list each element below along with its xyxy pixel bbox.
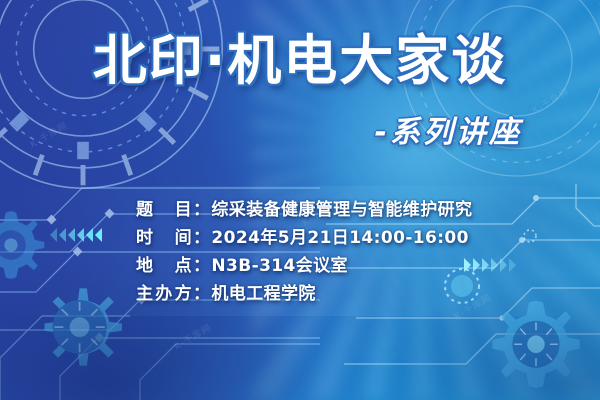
- detail-row-organizer: 主办方 ： 机电工程学院: [136, 279, 472, 307]
- detail-row-topic: 题目 ： 综采装备健康管理与智能维护研究: [136, 195, 472, 223]
- detail-value: 综采装备健康管理与智能维护研究: [211, 195, 472, 220]
- poster-title: 北印·机电大家谈: [0, 34, 600, 88]
- detail-colon: ：: [192, 195, 211, 220]
- detail-colon: ：: [192, 279, 211, 304]
- poster-subtitle: -系列讲座: [375, 118, 522, 148]
- event-details: 题目 ： 综采装备健康管理与智能维护研究 时间 ： 2024年5月21日14:0…: [136, 195, 472, 307]
- poster-canvas: K-千库网 K-千库网 K-千库网 K-千库网 K-千库网 K-千库网 北印·机…: [0, 0, 600, 400]
- detail-row-time: 时间 ： 2024年5月21日14:00-16:00: [136, 223, 472, 251]
- detail-value: 2024年5月21日14:00-16:00: [211, 223, 468, 248]
- detail-label: 时间: [136, 223, 192, 248]
- detail-label: 主办方: [136, 279, 192, 304]
- poster-content: 北印·机电大家谈 -系列讲座 题目 ： 综采装备健康管理与智能维护研究 时间 ：…: [0, 0, 600, 400]
- detail-row-location: 地点 ： N3B-314会议室: [136, 251, 472, 279]
- detail-value: N3B-314会议室: [211, 251, 348, 276]
- detail-colon: ：: [192, 223, 211, 248]
- detail-label: 地点: [136, 251, 192, 276]
- detail-colon: ：: [192, 251, 211, 276]
- detail-value: 机电工程学院: [211, 279, 315, 304]
- detail-label: 题目: [136, 195, 192, 220]
